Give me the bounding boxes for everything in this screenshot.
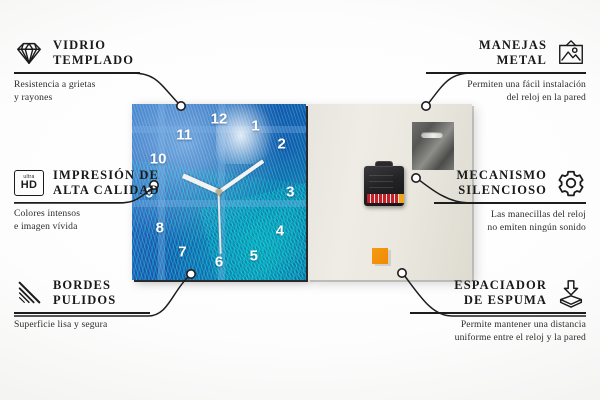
feature-header: MECANISMO SILENCIOSO bbox=[366, 168, 586, 198]
feature-manejas-metal: MANEJAS METAL Permiten una fácil instala… bbox=[366, 38, 586, 104]
feature-impresion-alta-calidad: ultra HD IMPRESIÓN DE ALTA CALIDAD Color… bbox=[14, 168, 234, 234]
feature-desc-line1: Resistencia a grietas bbox=[14, 79, 234, 92]
feature-divider bbox=[410, 312, 586, 314]
ultra-hd-icon-main-text: HD bbox=[21, 180, 38, 191]
feature-header: VIDRIO TEMPLADO bbox=[14, 38, 234, 68]
feature-title-line1: BORDES bbox=[53, 278, 116, 293]
feature-desc-line2: del reloj en la pared bbox=[366, 92, 586, 105]
feature-title-line2: TEMPLADO bbox=[53, 53, 134, 68]
feature-title-line1: IMPRESIÓN DE bbox=[53, 168, 160, 183]
feature-divider bbox=[14, 202, 126, 204]
feature-header: BORDES PULIDOS bbox=[14, 278, 234, 308]
feature-mecanismo-silencioso: MECANISMO SILENCIOSO Las manecillas del … bbox=[366, 168, 586, 234]
mechanism-tab bbox=[375, 161, 393, 167]
polished-edge-icon bbox=[14, 278, 44, 308]
feature-title: MECANISMO SILENCIOSO bbox=[457, 168, 547, 198]
feature-title-line2: ALTA CALIDAD bbox=[53, 183, 160, 198]
gear-icon bbox=[556, 168, 586, 198]
clock-numeral-6: 6 bbox=[215, 255, 223, 270]
press-down-pad-icon bbox=[556, 278, 586, 308]
feature-title-line2: SILENCIOSO bbox=[457, 183, 547, 198]
clock-numeral-4: 4 bbox=[276, 224, 284, 239]
clock-numeral-3: 3 bbox=[286, 185, 294, 200]
feature-title: BORDES PULIDOS bbox=[53, 278, 116, 308]
feature-title: IMPRESIÓN DE ALTA CALIDAD bbox=[53, 168, 160, 198]
feature-title-line1: MANEJAS bbox=[479, 38, 547, 53]
feature-vidrio-templado: VIDRIO TEMPLADO Resistencia a grietas y … bbox=[14, 38, 234, 104]
clock-numeral-12: 12 bbox=[211, 112, 228, 127]
feature-desc-line1: Colores intensos bbox=[14, 208, 234, 221]
feature-espaciador-espuma: ESPACIADOR DE ESPUMA Permite mantener un… bbox=[366, 278, 586, 344]
feature-desc-line1: Las manecillas del reloj bbox=[366, 209, 586, 222]
feature-header: ultra HD IMPRESIÓN DE ALTA CALIDAD bbox=[14, 168, 234, 198]
feature-title-line1: MECANISMO bbox=[457, 168, 547, 183]
metal-hanger-plate bbox=[412, 122, 454, 170]
feature-divider bbox=[434, 202, 586, 204]
feature-desc-line1: Permite mantener una distancia bbox=[366, 319, 586, 332]
feature-title: ESPACIADOR DE ESPUMA bbox=[454, 278, 547, 308]
feature-header: MANEJAS METAL bbox=[366, 38, 586, 68]
feature-title: VIDRIO TEMPLADO bbox=[53, 38, 134, 68]
ultra-hd-icon: ultra HD bbox=[14, 170, 44, 196]
feature-desc-line2: uniforme entre el reloj y la pared bbox=[366, 332, 586, 345]
feature-title-line2: PULIDOS bbox=[53, 293, 116, 308]
feature-title-line2: DE ESPUMA bbox=[454, 293, 547, 308]
feature-desc-line2: e imagen vívida bbox=[14, 221, 234, 234]
feature-divider bbox=[14, 72, 140, 74]
infographic-canvas: 12 1 2 3 4 5 6 7 8 9 10 11 bbox=[0, 0, 600, 400]
clock-numeral-10: 10 bbox=[150, 152, 167, 167]
clock-numeral-1: 1 bbox=[251, 119, 259, 134]
feature-title-line1: VIDRIO bbox=[53, 38, 134, 53]
feature-bordes-pulidos: BORDES PULIDOS Superficie lisa y segura bbox=[14, 278, 234, 332]
feature-divider bbox=[426, 72, 586, 74]
feature-header: ESPACIADOR DE ESPUMA bbox=[366, 278, 586, 308]
feature-desc-line1: Superficie lisa y segura bbox=[14, 319, 234, 332]
foam-spacer-pad bbox=[372, 248, 388, 264]
feature-desc-line2: no emiten ningún sonido bbox=[366, 222, 586, 235]
clock-numeral-2: 2 bbox=[277, 137, 285, 152]
feature-desc-line1: Permiten una fácil instalación bbox=[366, 79, 586, 92]
clock-numeral-7: 7 bbox=[178, 245, 186, 260]
hanging-frame-icon bbox=[556, 38, 586, 68]
feature-title-line1: ESPACIADOR bbox=[454, 278, 547, 293]
clock-numeral-11: 11 bbox=[176, 128, 192, 143]
feature-desc-line2: y rayones bbox=[14, 92, 234, 105]
feature-divider bbox=[14, 312, 150, 314]
feature-title-line2: METAL bbox=[479, 53, 547, 68]
clock-numeral-5: 5 bbox=[250, 249, 258, 264]
hanger-slot bbox=[421, 132, 443, 138]
feature-title: MANEJAS METAL bbox=[479, 38, 547, 68]
diamond-icon bbox=[14, 38, 44, 68]
